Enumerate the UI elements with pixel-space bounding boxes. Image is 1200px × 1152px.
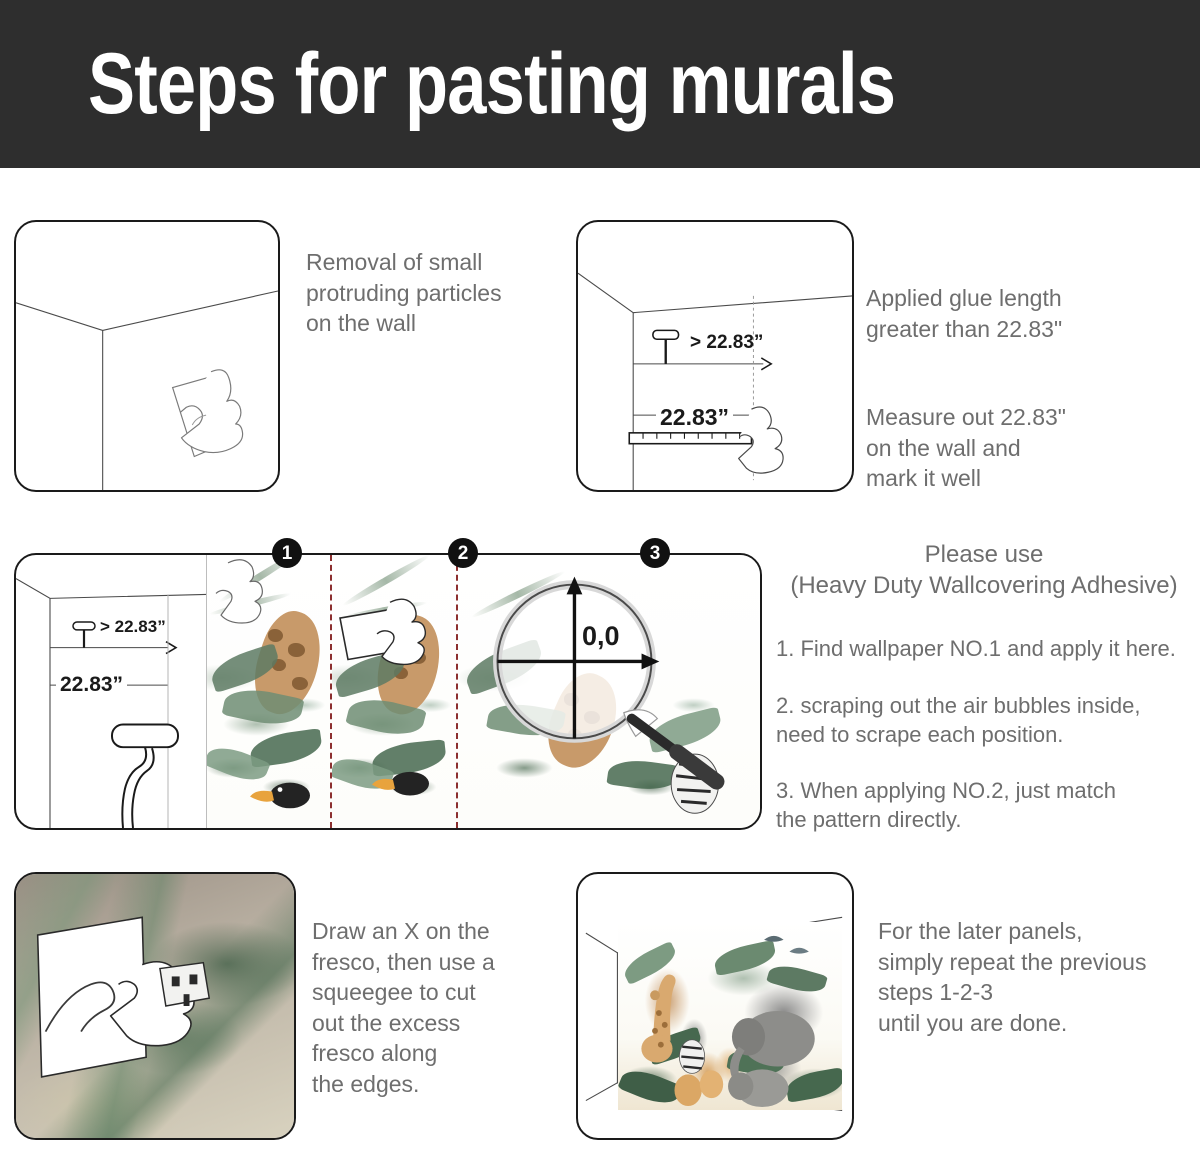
label-glue-length-step3: > 22.83” — [100, 617, 166, 637]
label-measure-step2: 22.83” — [656, 404, 733, 431]
label-measure-step3: 22.83” — [56, 673, 127, 697]
step-badge-1: 1 — [272, 538, 302, 568]
wallpaper-strip-1 — [206, 555, 332, 828]
panel-seam — [456, 555, 458, 828]
mural-animals — [618, 922, 842, 1110]
label-origin-coordinate: 0,0 — [582, 621, 620, 652]
hand-pressing-icon — [206, 555, 332, 828]
step-badge-2: 2 — [448, 538, 478, 568]
hand-with-squeegee-icon — [332, 555, 458, 828]
caption-step2-glue: Applied glue length greater than 22.83" — [866, 283, 1166, 344]
instruction-item-3: 3. When applying NO.2, just match the pa… — [776, 777, 1192, 834]
panel-step1-prepare-wall — [14, 220, 280, 492]
panel-step2-glue-measure: > 22.83” 22.83” — [576, 220, 854, 492]
panel-seam — [330, 555, 332, 828]
panel-step5-finished-mural — [576, 872, 854, 1140]
panel-step4-trim-excess — [14, 872, 296, 1140]
step-badge-3: 3 — [640, 538, 670, 568]
instructions-heading-line1: Please use — [776, 540, 1192, 571]
wallpaper-strip-3: 0,0 — [458, 555, 760, 828]
instruction-item-2: 2. scraping out the air bubbles inside, … — [776, 692, 1192, 749]
caption-step2-measure: Measure out 22.83" on the wall and mark … — [866, 402, 1166, 494]
caption-step5: For the later panels, simply repeat the … — [878, 916, 1198, 1038]
hand-scraper-icon — [16, 222, 278, 490]
room-corner-illustration — [578, 222, 852, 490]
adhesive-instructions: Please use (Heavy Duty Wallcovering Adhe… — [776, 540, 1192, 834]
page-title: Steps for pasting murals — [88, 41, 895, 127]
instruction-sheet: Steps for pasting murals Removal of smal… — [0, 0, 1200, 1152]
instruction-item-1: 1. Find wallpaper NO.1 and apply it here… — [776, 635, 1192, 664]
mural-wall-surface — [618, 922, 842, 1110]
hand-squeegee-illustration — [16, 874, 294, 1138]
caption-step4: Draw an X on the fresco, then use a sque… — [312, 916, 562, 1099]
panel-step3-hang-panels: > 22.83” 22.83” — [14, 553, 762, 830]
page-header: Steps for pasting murals — [0, 0, 1200, 168]
magnifier-icon — [458, 555, 760, 828]
wallpaper-strip-2 — [332, 555, 458, 828]
label-glue-length-step2: > 22.83” — [690, 332, 763, 354]
panel-guide-line — [206, 555, 207, 828]
instructions-heading-line2: (Heavy Duty Wallcovering Adhesive) — [776, 571, 1192, 602]
caption-step1: Removal of small protruding particles on… — [306, 247, 566, 339]
wall-section: > 22.83” 22.83” — [16, 555, 206, 828]
